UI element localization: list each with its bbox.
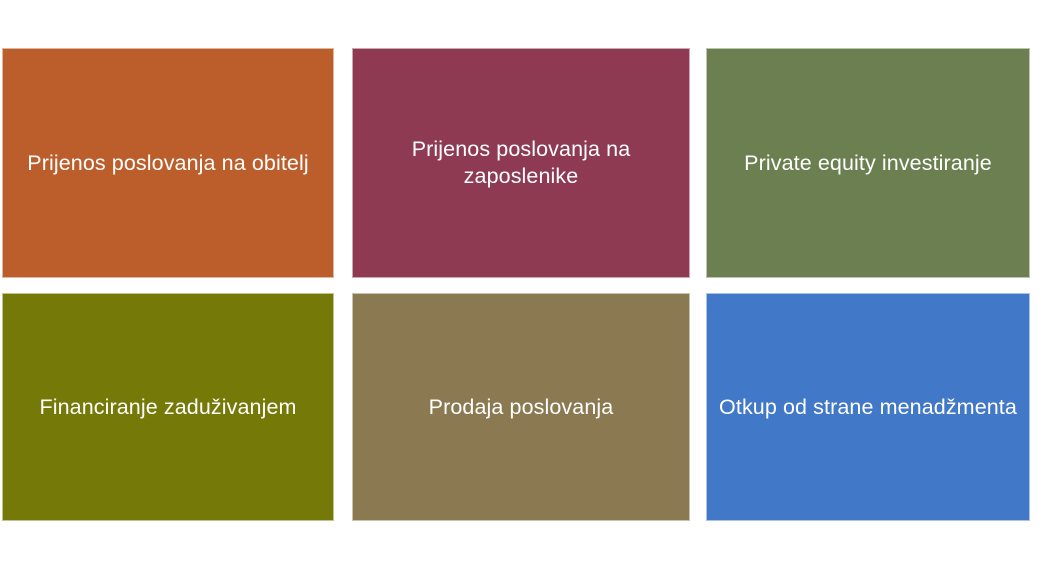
tile-prijenos-poslovanja-na-obitelj[interactable]: Prijenos poslovanja na obitelj [2,48,334,278]
tile-label: Financiranje zaduživanjem [29,394,306,421]
tile-financiranje-zaduzivanjem[interactable]: Financiranje zaduživanjem [2,293,334,521]
tile-prijenos-poslovanja-na-zaposlenike[interactable]: Prijenos poslovanja na zaposlenike [352,48,690,278]
tile-label: Private equity investiranje [734,150,1002,177]
tile-private-equity-investiranje[interactable]: Private equity investiranje [706,48,1030,278]
tile-label: Prodaja poslovanja [419,394,624,421]
tile-label: Otkup od strane menadžmenta [709,394,1027,421]
tile-label: Prijenos poslovanja na obitelj [17,150,318,177]
tile-label: Prijenos poslovanja na zaposlenike [353,136,689,190]
tile-prodaja-poslovanja[interactable]: Prodaja poslovanja [352,293,690,521]
slide-canvas: Prijenos poslovanja na obitelj Prijenos … [0,0,1039,562]
tile-otkup-od-strane-menadzmenta[interactable]: Otkup od strane menadžmenta [706,293,1030,521]
